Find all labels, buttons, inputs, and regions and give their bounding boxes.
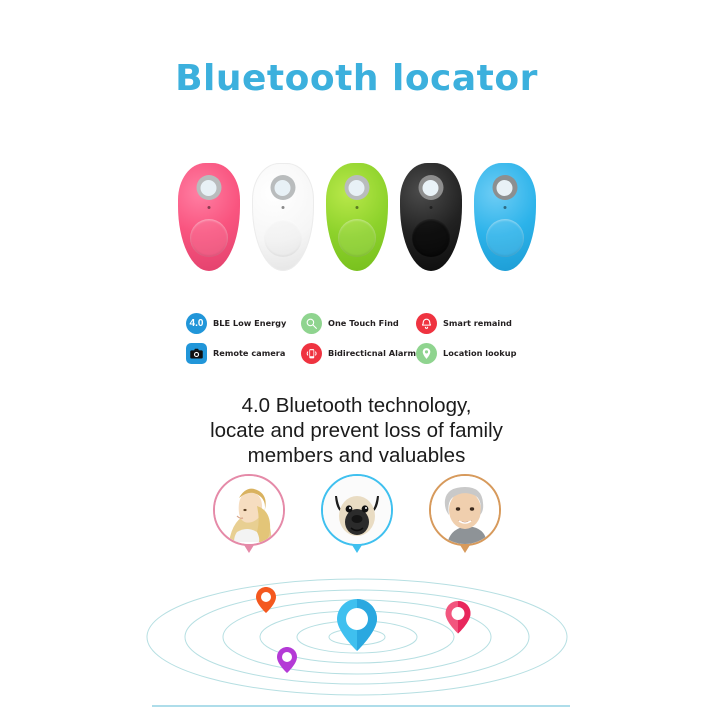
feature-label: Location lookup	[443, 348, 516, 358]
tracker-black	[400, 163, 462, 271]
pin-orange	[256, 587, 276, 613]
feature-label: Smart remaind	[443, 318, 512, 328]
product-image-row	[0, 163, 713, 278]
tracker-green	[326, 163, 388, 271]
feature-label: Remote camera	[213, 348, 285, 358]
alarm-phone-icon	[301, 343, 322, 364]
headline-block: 4.0 Bluetooth technology, locate and pre…	[0, 393, 713, 468]
radar-location-graphic	[0, 575, 713, 700]
keyring-hole-icon	[270, 175, 295, 200]
feature-smart-remind: Smart remaind	[416, 313, 531, 334]
pin-center-blue	[337, 599, 377, 651]
tracker-blue	[474, 163, 536, 271]
map-pin-icon	[416, 343, 437, 364]
led-indicator	[281, 206, 284, 209]
feature-location-lookup: Location lookup	[416, 343, 531, 364]
photo-pointer	[244, 545, 254, 553]
feature-label: Bidirecticnal Alarm	[328, 348, 416, 358]
feature-remote-camera: Remote camera	[186, 343, 301, 364]
headline-line-2: locate and prevent loss of family	[0, 418, 713, 443]
tracker-button	[486, 219, 524, 257]
photo-pet-dog	[321, 474, 393, 546]
pin-purple	[277, 647, 297, 673]
headline-line-1: 4.0 Bluetooth technology,	[0, 393, 713, 418]
led-indicator	[429, 206, 432, 209]
keyring-hole-icon	[492, 175, 517, 200]
photo-ring	[429, 474, 501, 546]
child-portrait	[215, 476, 283, 544]
use-case-photo-row	[0, 474, 713, 546]
feature-label: BLE Low Energy	[213, 318, 286, 328]
led-indicator	[503, 206, 506, 209]
footer-divider	[152, 705, 570, 707]
feature-list: 4.0 BLE Low Energy One Touch Find Smart …	[186, 308, 531, 368]
headline-line-3: members and valuables	[0, 443, 713, 468]
photo-pointer	[460, 545, 470, 553]
elderly-portrait	[431, 476, 499, 544]
tracker-pink	[178, 163, 240, 271]
keyring-hole-icon	[418, 175, 443, 200]
led-indicator	[207, 206, 210, 209]
smart-remind-icon	[416, 313, 437, 334]
ble-version-text: 4.0	[190, 318, 204, 329]
one-touch-find-icon	[301, 313, 322, 334]
keyring-hole-icon	[196, 175, 221, 200]
photo-child	[213, 474, 285, 546]
camera-icon	[186, 343, 207, 364]
tracker-button	[264, 219, 302, 257]
photo-ring	[213, 474, 285, 546]
photo-elderly	[429, 474, 501, 546]
tracker-button	[338, 219, 376, 257]
feature-label: One Touch Find	[328, 318, 399, 328]
photo-pointer	[352, 545, 362, 553]
tracker-white	[252, 163, 314, 271]
feature-one-touch-find: One Touch Find	[301, 313, 416, 334]
led-indicator	[355, 206, 358, 209]
pug-portrait	[323, 476, 391, 544]
photo-ring	[321, 474, 393, 546]
keyring-hole-icon	[344, 175, 369, 200]
tracker-button	[190, 219, 228, 257]
ble-4-0-icon: 4.0	[186, 313, 207, 334]
page-title: Bluetooth locator	[0, 58, 713, 99]
feature-ble-low-energy: 4.0 BLE Low Energy	[186, 313, 301, 334]
tracker-button	[412, 219, 450, 257]
feature-bidirectional-alarm: Bidirecticnal Alarm	[301, 343, 416, 364]
